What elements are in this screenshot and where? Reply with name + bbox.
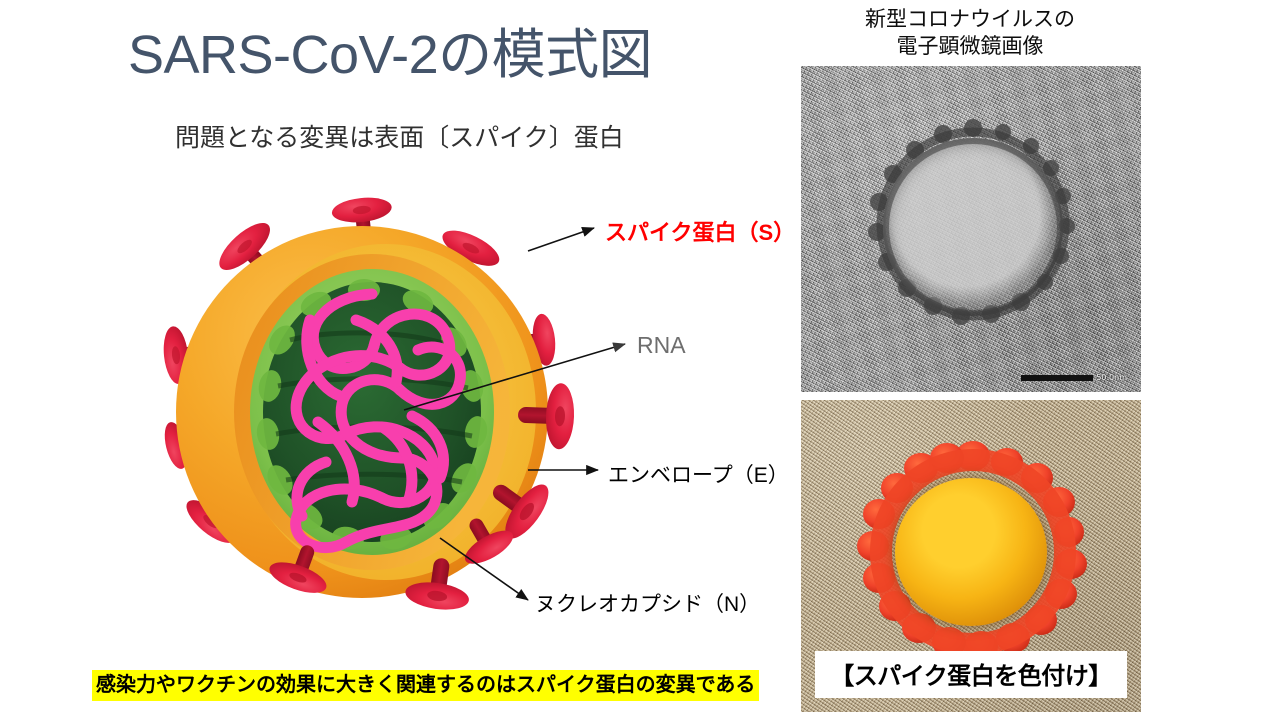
em-panel-heading: 新型コロナウイルスの 電子顕微鏡画像 — [800, 6, 1140, 61]
em-scale-bar-line — [1021, 375, 1093, 381]
em-heading-line-1: 新型コロナウイルスの — [800, 6, 1140, 33]
em-virion-core — [883, 138, 1063, 316]
colorized-photo-caption: 【スパイク蛋白を色付け】 — [815, 651, 1127, 698]
page-subtitle: 問題となる変異は表面〔スパイク〕蛋白 — [175, 118, 624, 154]
slide-canvas: SARS-CoV-2の模式図 問題となる変異は表面〔スパイク〕蛋白 新型コロナウ… — [0, 0, 1280, 720]
colorized-micrograph-image: 【スパイク蛋白を色付け】 — [801, 400, 1141, 712]
em-heading-line-2: 電子顕微鏡画像 — [800, 33, 1140, 60]
label-nucleocapsid: ヌクレオカプシド（N） — [535, 588, 760, 618]
em-scale-bar-label: 50.0nm — [1096, 373, 1127, 382]
em-scale-bar: 50.0nm — [1021, 373, 1127, 382]
label-envelope: エンベロープ（E） — [608, 459, 789, 489]
colorized-virion-core — [895, 478, 1047, 626]
label-spike-protein: スパイク蛋白（S） — [605, 215, 795, 247]
virus-schematic-illustration — [150, 190, 620, 640]
page-title: SARS-CoV-2の模式図 — [128, 24, 652, 86]
footer-highlight-note: 感染力やワクチンの効果に大きく関連するのはスパイク蛋白の変異である — [92, 670, 759, 701]
electron-micrograph-image: 50.0nm — [801, 66, 1141, 392]
label-rna: RNA — [637, 332, 686, 359]
